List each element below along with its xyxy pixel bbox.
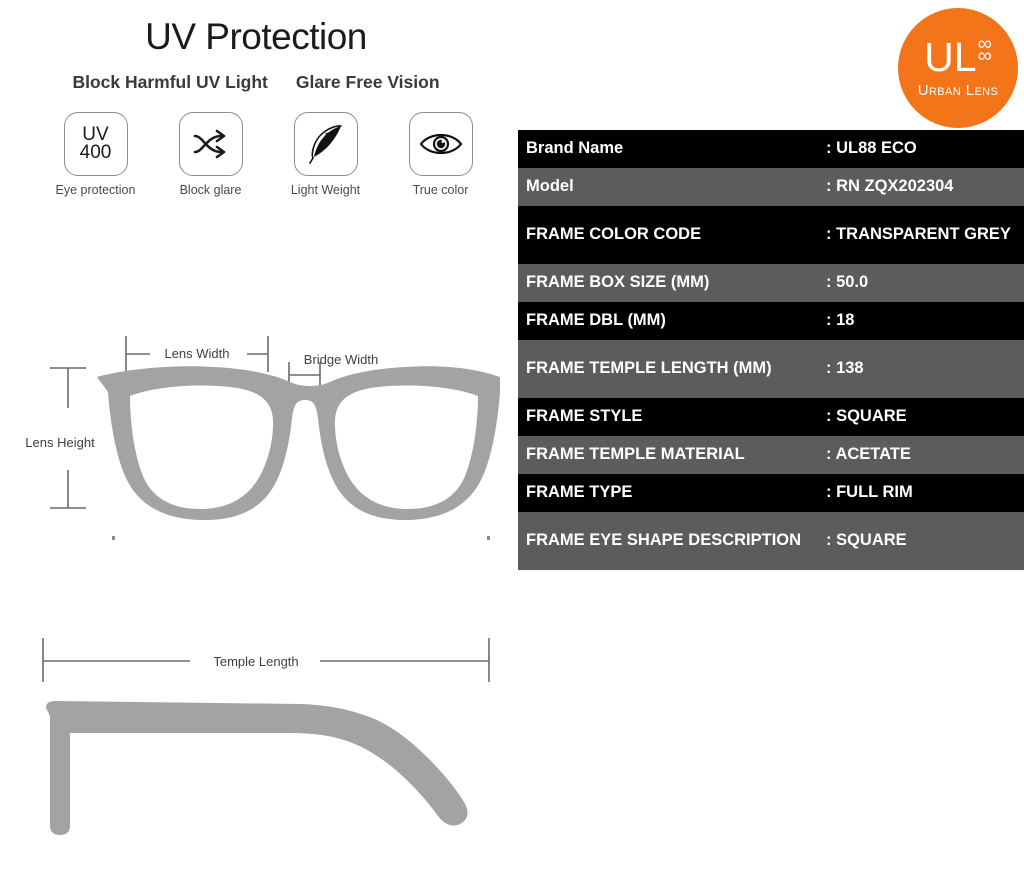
table-row: FRAME EYE SHAPE DESCRIPTION: SQUARE xyxy=(518,512,1024,570)
feature-block-glare: Block glare xyxy=(163,112,258,197)
feature-list: UV 400 Eye protection Block glare xyxy=(48,112,488,197)
feature-caption: Eye protection xyxy=(56,183,136,197)
spec-key: FRAME STYLE xyxy=(518,400,826,433)
spec-value: : UL88 ECO xyxy=(826,132,1024,165)
infinity-bottom-icon: ∞ xyxy=(978,50,992,62)
table-row: FRAME COLOR CODE: TRANSPARENT GREY xyxy=(518,206,1024,264)
spec-key: FRAME TYPE xyxy=(518,476,826,509)
temple-arm-shape xyxy=(46,701,467,835)
spec-value: : SQUARE xyxy=(826,524,1024,557)
page-title: UV Protection xyxy=(0,16,512,58)
spec-value: : TRANSPARENT GREY xyxy=(826,218,1024,251)
feather-icon xyxy=(294,112,358,176)
logo-mark: UL ∞ ∞ xyxy=(924,37,992,78)
table-row: FRAME BOX SIZE (MM): 50.0 xyxy=(518,264,1024,302)
spec-value: : 18 xyxy=(826,304,1024,337)
table-row: FRAME DBL (MM): 18 xyxy=(518,302,1024,340)
uv400-line2: 400 xyxy=(80,144,112,162)
spec-value: : 50.0 xyxy=(826,266,1024,299)
feature-caption: True color xyxy=(413,183,469,197)
spec-key: FRAME COLOR CODE xyxy=(518,218,826,251)
spec-key: Brand Name xyxy=(518,132,826,165)
spec-value: : RN ZQX202304 xyxy=(826,170,1024,203)
shuffle-arrows-icon xyxy=(179,112,243,176)
spec-value: : SQUARE xyxy=(826,400,1024,433)
eyeglass-frame-shape xyxy=(97,366,500,520)
promo-subtitle-left: Block Harmful UV Light xyxy=(72,72,267,93)
table-row: Brand Name: UL88 ECO xyxy=(518,130,1024,168)
spec-key: FRAME TEMPLE MATERIAL xyxy=(518,438,826,471)
spec-key: FRAME BOX SIZE (MM) xyxy=(518,266,826,299)
bridge-width-label: Bridge Width xyxy=(304,352,378,367)
logo-brand-name: Urban Lens xyxy=(918,82,999,99)
uv-promo-header: UV Protection Block Harmful UV Light Gla… xyxy=(0,4,512,93)
spec-key: FRAME DBL (MM) xyxy=(518,304,826,337)
feature-true-color: True color xyxy=(393,112,488,197)
table-row: FRAME TEMPLE LENGTH (MM): 138 xyxy=(518,340,1024,398)
temple-length-label: Temple Length xyxy=(213,654,298,669)
spec-key: FRAME TEMPLE LENGTH (MM) xyxy=(518,352,826,385)
table-row: Model: RN ZQX202304 xyxy=(518,168,1024,206)
eye-icon xyxy=(409,112,473,176)
spec-key: FRAME EYE SHAPE DESCRIPTION xyxy=(518,524,826,557)
logo-initials: UL xyxy=(924,37,976,78)
uv400-icon: UV 400 xyxy=(64,112,128,176)
feature-caption: Light Weight xyxy=(291,183,360,197)
specification-table: Brand Name: UL88 ECOModel: RN ZQX202304F… xyxy=(518,130,1024,570)
spec-value: : 138 xyxy=(826,352,1024,385)
table-row: FRAME STYLE: SQUARE xyxy=(518,398,1024,436)
promo-subtitles: Block Harmful UV Light Glare Free Vision xyxy=(0,72,512,93)
lens-width-label: Lens Width xyxy=(164,346,229,361)
promo-subtitle-right: Glare Free Vision xyxy=(296,72,440,93)
spec-key: Model xyxy=(518,170,826,203)
brand-logo-badge: UL ∞ ∞ Urban Lens xyxy=(898,8,1018,128)
spec-value: : FULL RIM xyxy=(826,476,1024,509)
feature-caption: Block glare xyxy=(180,183,242,197)
table-row: FRAME TEMPLE MATERIAL: ACETATE xyxy=(518,436,1024,474)
double-infinity-icon: ∞ ∞ xyxy=(978,38,992,63)
lens-height-label: Lens Height xyxy=(25,435,95,450)
frame-temple-diagram: Temple Length xyxy=(0,630,512,865)
feature-eye-protection: UV 400 Eye protection xyxy=(48,112,143,197)
spec-value: : ACETATE xyxy=(826,438,1024,471)
table-row: FRAME TYPE: FULL RIM xyxy=(518,474,1024,512)
frame-front-diagram: Lens Width Bridge Width Lens Height xyxy=(0,330,512,560)
feature-light-weight: Light Weight xyxy=(278,112,373,197)
